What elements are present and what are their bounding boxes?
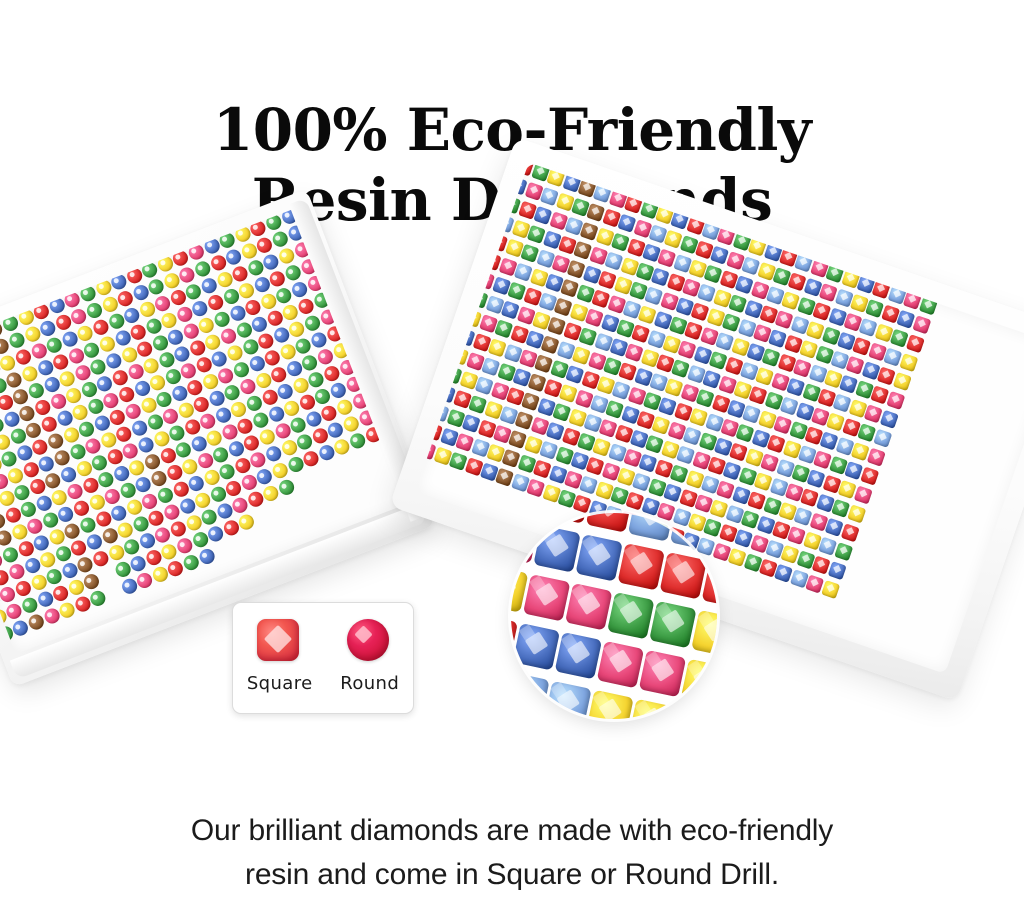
drill-bead <box>51 584 70 603</box>
drill-bead <box>840 523 859 542</box>
drill-bead <box>237 281 256 300</box>
drill-bead <box>135 571 154 590</box>
drill-bead <box>899 353 918 372</box>
round-drill-tray <box>0 258 386 618</box>
drill-bead <box>681 659 717 706</box>
drill-bead <box>283 263 302 282</box>
drill-bead <box>185 378 204 397</box>
drill-bead <box>14 579 33 598</box>
drill-bead <box>277 478 296 497</box>
drill-bead <box>250 315 269 334</box>
drill-bead <box>98 334 117 353</box>
drill-bead <box>88 589 107 608</box>
drill-bead <box>91 318 110 337</box>
drill-bead <box>154 390 173 409</box>
drill-bead <box>20 596 39 615</box>
drill-bead <box>271 230 290 249</box>
drill-bead <box>25 285 44 304</box>
drill-bead <box>348 431 367 450</box>
drill-bead <box>148 373 167 392</box>
square-gem-icon <box>257 619 299 661</box>
caption-line-2: resin and come in Square or Round Drill. <box>0 853 1024 897</box>
drill-bead <box>544 513 591 524</box>
drill-bead <box>428 360 447 379</box>
drill-bead <box>256 331 275 350</box>
drill-bead <box>20 364 39 383</box>
drill-bead <box>218 231 237 250</box>
drill-bead <box>909 272 928 291</box>
drill-bead <box>58 369 77 388</box>
drill-bead <box>238 377 257 396</box>
drill-bead <box>511 513 549 515</box>
drill-bead <box>575 534 622 581</box>
drill-bead <box>329 381 348 400</box>
drill-bead <box>72 267 91 286</box>
drill-bead <box>85 301 104 320</box>
drill-bead <box>523 574 570 621</box>
drill-bead <box>175 536 194 555</box>
drill-bead <box>232 360 251 379</box>
drill-bead <box>130 418 149 437</box>
drill-bead <box>847 504 866 523</box>
drill-bead <box>7 331 26 350</box>
drill-bead <box>225 343 244 362</box>
drill-bead <box>276 382 295 401</box>
drill-bead <box>10 291 29 310</box>
drill-bead <box>3 274 22 293</box>
drill-bead <box>295 432 314 451</box>
drill-bead <box>187 242 206 261</box>
drill-bead <box>628 513 675 542</box>
drill-bead <box>290 280 309 299</box>
drill-bead <box>19 268 38 287</box>
drill-bead <box>82 572 101 591</box>
drill-bead <box>568 162 587 173</box>
drill-bead <box>448 303 467 322</box>
drill-bead <box>415 436 421 455</box>
drill-bead <box>231 264 250 283</box>
drill-bead <box>878 261 897 280</box>
drill-bead <box>6 466 25 485</box>
drill-bead <box>187 474 206 493</box>
drill-bead <box>415 398 434 417</box>
drill-bead <box>322 364 341 383</box>
drill-bead <box>64 386 83 405</box>
drill-bead <box>156 486 175 505</box>
drill-bead <box>863 256 882 275</box>
drill-bead <box>46 431 65 450</box>
drill-bead <box>197 547 216 566</box>
drill-bead <box>289 415 308 434</box>
drill-bead <box>801 235 820 254</box>
drill-bead <box>586 690 633 719</box>
drill-bead <box>886 391 905 410</box>
drill-bead <box>691 610 717 657</box>
drill-bead <box>219 326 238 345</box>
legend-label-square: Square <box>247 673 313 694</box>
drill-bead <box>302 449 321 468</box>
drill-bead <box>206 524 225 543</box>
drill-bead <box>335 398 354 417</box>
drill-bead <box>224 479 243 498</box>
drill-bead <box>122 306 141 325</box>
drill-bead <box>45 567 64 586</box>
drill-bead <box>103 255 122 274</box>
drill-bead <box>70 403 89 422</box>
drill-bead <box>161 407 180 426</box>
drill-bead <box>85 532 104 551</box>
drill-bead <box>103 487 122 506</box>
drill-bead <box>169 519 188 538</box>
drill-bead <box>206 293 225 312</box>
drill-bead <box>243 298 262 317</box>
drill-bead <box>873 429 892 448</box>
round-gem-icon <box>347 619 389 661</box>
drill-bead <box>834 542 853 561</box>
drill-bead <box>0 449 19 468</box>
drill-bead <box>180 457 199 476</box>
drill-bead <box>19 500 38 519</box>
legend-label-round: Round <box>340 673 399 694</box>
drill-bead <box>27 612 46 631</box>
drill-bead <box>112 233 131 252</box>
drill-bead <box>258 207 277 215</box>
drill-bead <box>422 379 441 398</box>
drill-bead <box>123 402 142 421</box>
drill-bead <box>41 279 60 298</box>
drill-bead <box>32 533 51 552</box>
drill-bead <box>52 448 71 467</box>
drill-bead <box>597 641 644 688</box>
drill-bead <box>816 240 835 259</box>
drill-bead <box>513 623 560 670</box>
drill-bead <box>832 245 851 264</box>
drill-bead <box>200 276 219 295</box>
drill-bead <box>118 249 137 268</box>
drill-bead <box>25 516 44 535</box>
drill-bead <box>58 601 77 620</box>
drill-bead <box>754 219 773 238</box>
drill-bead <box>628 699 675 719</box>
drill-bead <box>149 469 168 488</box>
drill-bead <box>50 256 69 275</box>
caption-text: Our brilliant diamonds are made with eco… <box>0 809 1024 897</box>
drill-bead <box>134 243 153 262</box>
magnified-bead-grid <box>511 513 717 719</box>
drill-bead <box>553 162 572 168</box>
drill-bead <box>649 601 696 648</box>
drill-bead <box>467 247 486 266</box>
drill-bead <box>1 545 20 564</box>
drill-bead <box>607 592 654 639</box>
drill-bead <box>117 385 136 404</box>
drill-bead <box>110 368 129 387</box>
drill-bead <box>116 289 135 308</box>
drill-bead <box>167 423 186 442</box>
drill-bead <box>770 224 789 243</box>
drill-bead <box>474 228 493 247</box>
drill-bead <box>271 461 290 480</box>
drill-bead <box>264 213 283 232</box>
drill-type-legend[interactable]: Square Round <box>232 602 414 714</box>
drill-bead <box>277 246 296 265</box>
legend-label-row: Square Round <box>233 667 413 699</box>
drill-bead <box>905 334 924 353</box>
drill-bead <box>109 272 128 291</box>
drill-bead <box>77 420 96 439</box>
drill-bead <box>56 273 75 292</box>
caption-line-1: Our brilliant diamonds are made with eco… <box>191 814 833 847</box>
drill-bead <box>879 410 898 429</box>
drill-bead <box>193 491 212 510</box>
drill-bead <box>639 650 686 697</box>
drill-bead <box>141 356 160 375</box>
drill-bead <box>109 504 128 523</box>
drill-bead <box>104 351 123 370</box>
drill-bead <box>264 444 283 463</box>
drill-bead <box>96 470 115 489</box>
drill-bead <box>45 336 64 355</box>
drill-bead <box>34 262 53 281</box>
square-bead-grid <box>415 162 1024 673</box>
drill-bead <box>0 280 7 299</box>
drill-bead <box>660 552 707 599</box>
drill-bead <box>912 315 931 334</box>
drill-bead <box>827 561 846 580</box>
drill-bead <box>918 296 937 315</box>
drill-bead <box>149 238 168 257</box>
drill-bead <box>847 251 866 270</box>
drill-bead <box>296 297 315 316</box>
drill-bead <box>544 681 591 719</box>
drill-bead <box>0 297 14 316</box>
drill-bead <box>81 245 100 264</box>
drill-bead <box>342 414 361 433</box>
drill-bead <box>7 562 26 581</box>
drill-bead <box>39 415 58 434</box>
drill-bead <box>129 323 148 342</box>
drill-bead <box>27 381 46 400</box>
product-banner: 100% Eco-Friendly Resin Diamonds Squ <box>0 0 1024 923</box>
drill-bead <box>670 513 717 551</box>
drill-bead <box>90 453 109 472</box>
drill-bead <box>162 503 181 522</box>
drill-bead <box>461 266 480 285</box>
drill-bead <box>533 525 580 572</box>
drill-bead <box>586 513 633 533</box>
drill-bead <box>584 162 603 178</box>
drill-bead <box>38 550 57 569</box>
drill-bead <box>269 365 288 384</box>
drill-bead <box>200 507 219 526</box>
drill-bead <box>136 435 155 454</box>
drill-bead <box>135 339 154 358</box>
drill-bead <box>258 427 277 446</box>
drill-bead <box>212 310 231 329</box>
drill-bead <box>116 520 135 539</box>
legend-gem-row <box>233 617 413 663</box>
drill-bead <box>821 580 840 599</box>
drill-bead <box>1 314 20 333</box>
drill-bead <box>555 632 602 679</box>
drill-bead <box>83 436 102 455</box>
drill-bead <box>38 319 57 338</box>
drill-bead <box>193 259 212 278</box>
drill-bead <box>866 447 885 466</box>
drill-bead <box>251 410 270 429</box>
drill-bead <box>785 229 804 248</box>
drill-bead <box>894 267 913 286</box>
drill-bead <box>224 247 243 266</box>
zoom-detail-circle <box>511 513 717 719</box>
tray-inner-right <box>415 162 1024 673</box>
drill-bead <box>32 302 51 321</box>
drill-bead <box>454 285 473 304</box>
drill-bead <box>14 347 33 366</box>
drill-bead <box>87 261 106 280</box>
drill-bead <box>316 347 335 366</box>
drill-bead <box>78 284 97 303</box>
drill-bead <box>78 515 97 534</box>
drill-bead <box>237 512 256 531</box>
drill-bead <box>51 352 70 371</box>
drill-bead <box>670 708 717 719</box>
drill-bead <box>174 440 193 459</box>
drill-bead <box>59 465 78 484</box>
drill-bead <box>96 239 115 258</box>
drill-bead <box>33 398 52 417</box>
drill-bead <box>181 553 200 572</box>
drill-bead <box>853 485 872 504</box>
drill-bead <box>860 466 879 485</box>
drill-bead <box>143 452 162 471</box>
drill-bead <box>415 417 427 436</box>
drill-bead <box>72 499 91 518</box>
drill-bead <box>12 483 31 502</box>
drill-bead <box>245 394 264 413</box>
drill-bead <box>282 399 301 418</box>
drill-bead <box>925 277 944 296</box>
drill-bead <box>65 482 84 501</box>
drill-bead <box>122 537 141 556</box>
drill-bead <box>617 543 664 590</box>
drill-bead <box>892 372 911 391</box>
drill-bead <box>263 348 282 367</box>
drill-bead <box>441 322 460 341</box>
drill-bead <box>91 549 110 568</box>
drill-bead <box>565 583 612 630</box>
drill-bead <box>511 672 550 719</box>
drill-bead <box>309 330 328 349</box>
drill-bead <box>129 554 148 573</box>
drill-bead <box>303 314 322 333</box>
drill-bead <box>435 341 454 360</box>
drill-bead <box>65 250 84 269</box>
